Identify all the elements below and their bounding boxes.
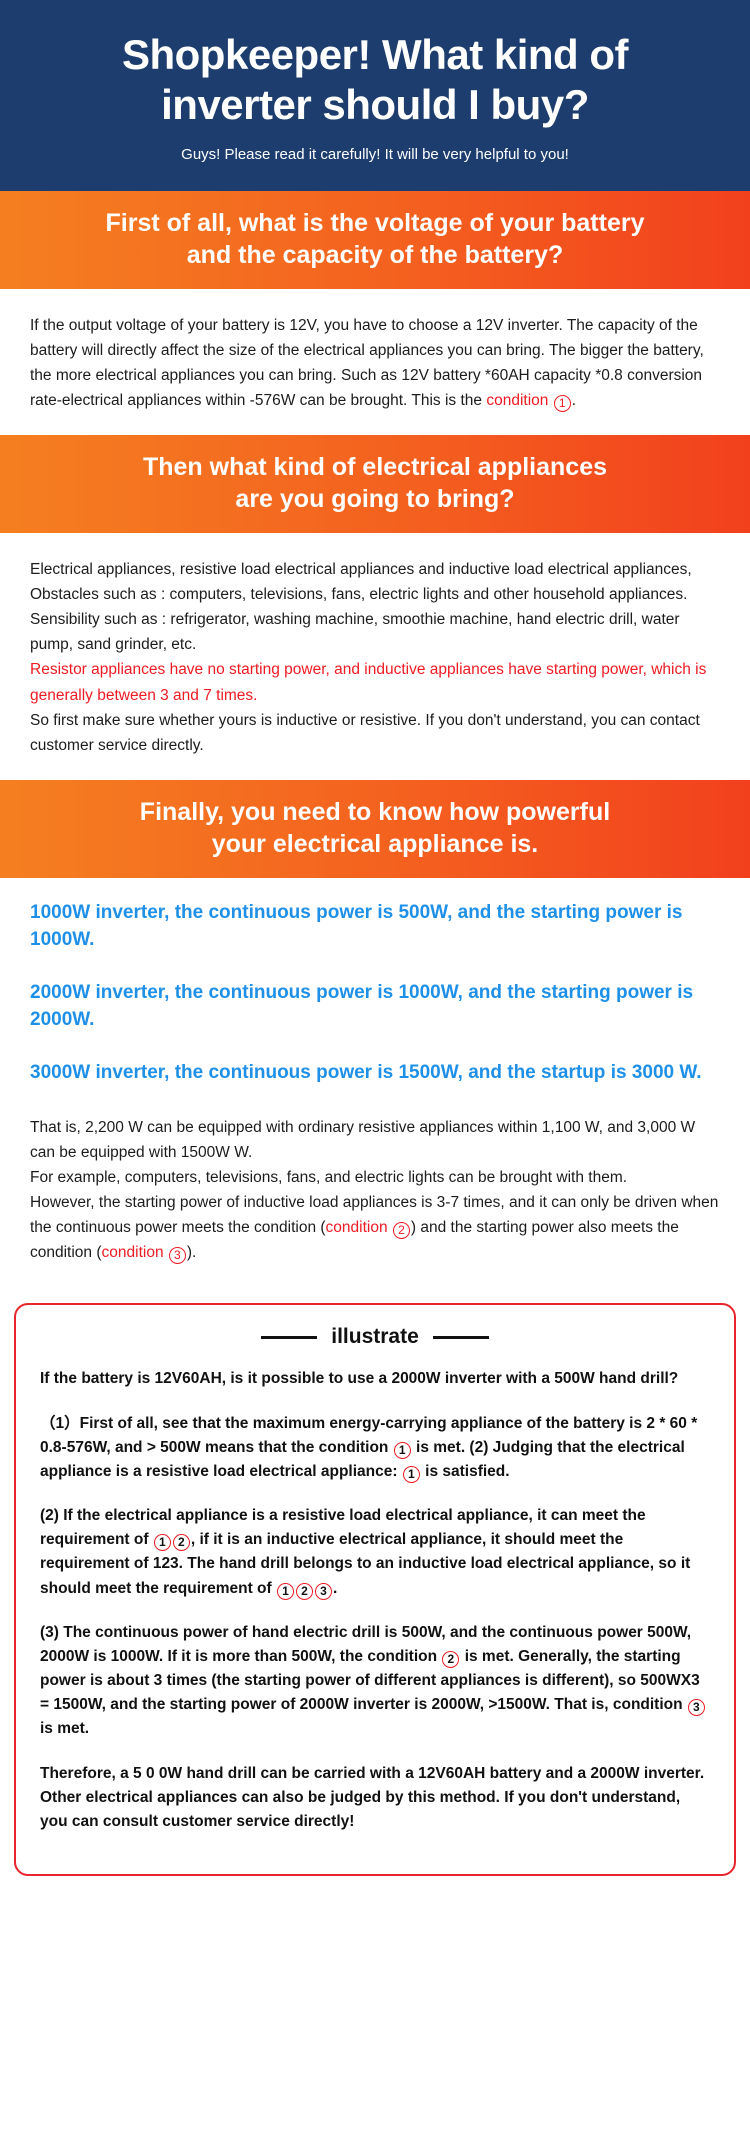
circled-number-2: 2 (393, 1222, 410, 1239)
illustrate-box: illustrate If the battery is 12V60AH, is… (14, 1303, 736, 1876)
condition-label-2: condition (326, 1219, 388, 1236)
section-1-paragraph: If the output voltage of your battery is… (30, 313, 720, 413)
inductive-examples-text: Sensibility such as : refrigerator, wash… (30, 611, 680, 653)
section-3-heading: Finally, you need to know how powerful y… (0, 780, 750, 878)
illustrate-heading: illustrate (40, 1325, 710, 1349)
appliance-types-text: Electrical appliances, resistive load el… (30, 561, 692, 578)
section-2-closing-text: So first make sure whether yours is indu… (30, 712, 700, 754)
section-3-body: That is, 2,200 W can be equipped with or… (0, 1091, 750, 1288)
circled-number-step2-1: 1 (154, 1534, 171, 1551)
section-2-heading-line2: are you going to bring? (40, 483, 710, 515)
section-1-text-main: If the output voltage of your battery is… (30, 317, 704, 409)
section-3-paragraph: That is, 2,200 W can be equipped with or… (30, 1115, 720, 1266)
circled-number-step2-3: 1 (277, 1583, 294, 1600)
rule-left-icon (261, 1336, 317, 1339)
illustrate-section: illustrate If the battery is 12V60AH, is… (0, 1287, 750, 1898)
hero-banner: Shopkeeper! What kind of inverter should… (0, 0, 750, 191)
inductive-condition-text-c: ). (187, 1244, 196, 1261)
condition-label-3: condition (102, 1244, 164, 1261)
circled-number-step3-1: 2 (442, 1651, 459, 1668)
section-1-text-suffix: . (572, 392, 576, 409)
inverter-power-list: 1000W inverter, the continuous power is … (0, 878, 750, 1091)
section-2-heading-line1: Then what kind of electrical appliances (40, 451, 710, 483)
circled-number-step1-2: 1 (403, 1466, 420, 1483)
section-2-paragraph: Electrical appliances, resistive load el… (30, 557, 720, 758)
section-2-body: Electrical appliances, resistive load el… (0, 533, 750, 780)
inverter-spec-3000w: 3000W inverter, the continuous power is … (30, 1060, 720, 1087)
illustrate-question: If the battery is 12V60AH, is it possibl… (40, 1367, 710, 1391)
illustrate-title: illustrate (331, 1325, 419, 1349)
step-3-text-c: is met. (40, 1720, 89, 1737)
illustrate-step-2: (2) If the electrical appliance is a res… (40, 1504, 710, 1601)
circled-number-step2-5: 3 (315, 1583, 332, 1600)
section-2-heading: Then what kind of electrical appliances … (0, 435, 750, 533)
inverter-spec-2000w: 2000W inverter, the continuous power is … (30, 980, 720, 1034)
illustrate-conclusion: Therefore, a 5 0 0W hand drill can be ca… (40, 1762, 710, 1835)
page-title-line2: inverter should I buy? (40, 80, 710, 130)
page-title: Shopkeeper! What kind of inverter should… (40, 30, 710, 129)
capacity-summary-text: That is, 2,200 W can be equipped with or… (30, 1119, 695, 1161)
rule-right-icon (433, 1336, 489, 1339)
page-subtitle: Guys! Please read it carefully! It will … (40, 145, 710, 165)
section-3-heading-line1: Finally, you need to know how powerful (40, 796, 710, 828)
example-appliances-text: For example, computers, televisions, fan… (30, 1169, 627, 1186)
circled-number-step3-2: 3 (688, 1699, 705, 1716)
section-1-heading: First of all, what is the voltage of you… (0, 191, 750, 289)
section-1-body: If the output voltage of your battery is… (0, 289, 750, 435)
section-3-heading-line2: your electrical appliance is. (40, 828, 710, 860)
circled-number-step2-4: 2 (296, 1583, 313, 1600)
circled-number-step1-1: 1 (394, 1442, 411, 1459)
section-1-heading-line1: First of all, what is the voltage of you… (40, 207, 710, 239)
circled-number-1: 1 (554, 395, 571, 412)
section-1-heading-line2: and the capacity of the battery? (40, 239, 710, 271)
inverter-spec-1000w: 1000W inverter, the continuous power is … (30, 900, 720, 954)
circled-number-step2-2: 2 (173, 1534, 190, 1551)
illustrate-step-1: （1）First of all, see that the maximum en… (40, 1412, 710, 1485)
step-2-text-c: . (333, 1580, 337, 1597)
resistive-examples-text: Obstacles such as : computers, televisio… (30, 586, 687, 603)
starting-power-note: Resistor appliances have no starting pow… (30, 661, 706, 703)
illustrate-step-3: (3) The continuous power of hand electri… (40, 1621, 710, 1742)
condition-label-1: condition (486, 392, 548, 409)
circled-number-3: 3 (169, 1247, 186, 1264)
page-title-line1: Shopkeeper! What kind of (40, 30, 710, 80)
step-1-text-c: is satisfied. (421, 1463, 510, 1480)
